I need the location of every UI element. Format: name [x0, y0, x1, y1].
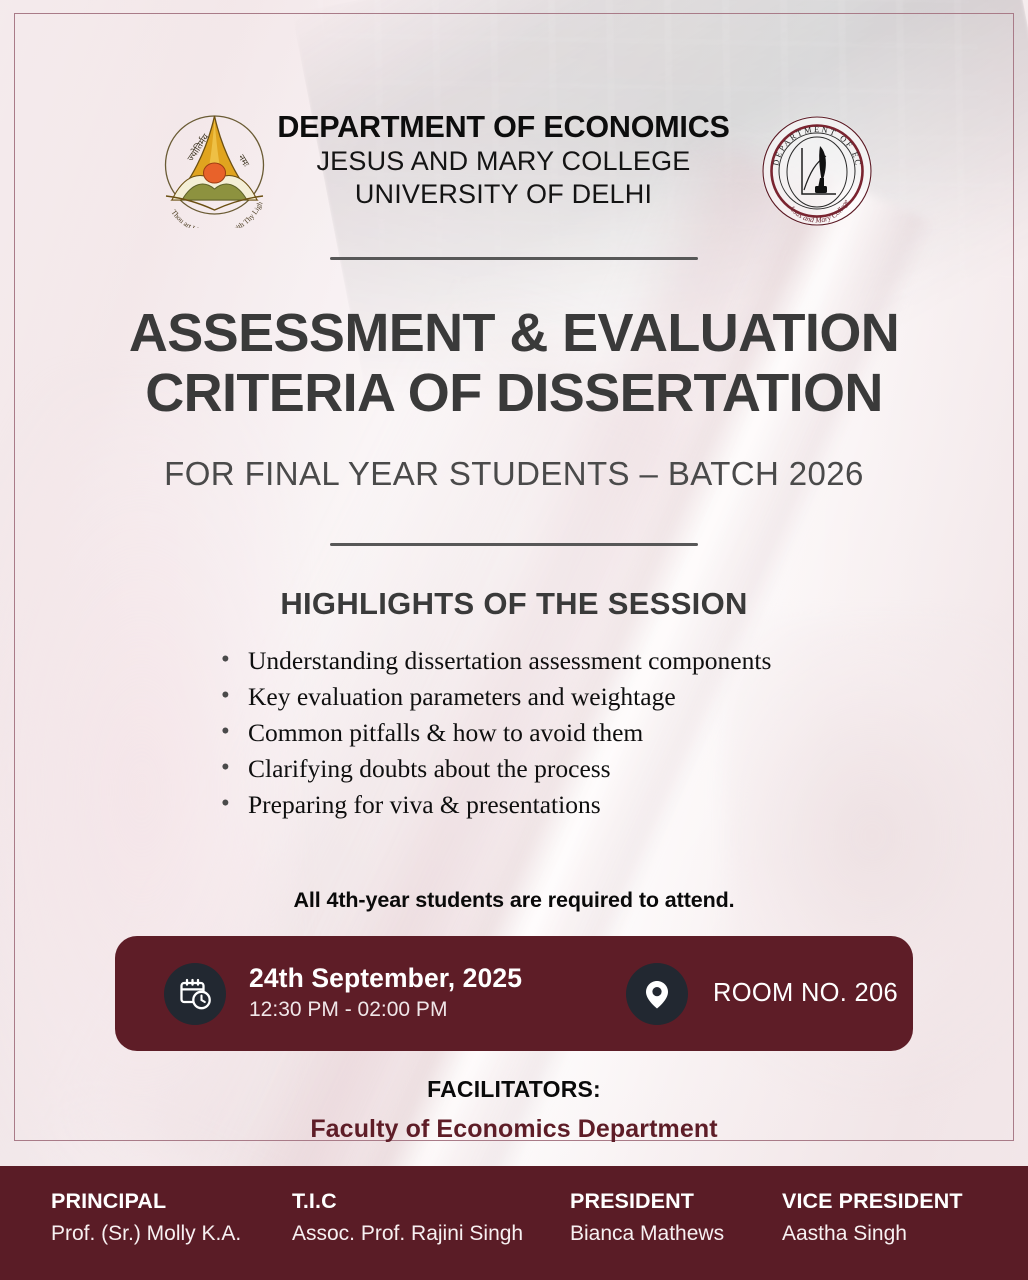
footer-person: VICE PRESIDENT Aastha Singh — [782, 1188, 963, 1249]
calendar-clock-icon — [164, 963, 226, 1025]
map-pin-icon — [626, 963, 688, 1025]
highlights-heading: HIGHLIGHTS OF THE SESSION — [0, 586, 1028, 622]
event-poster: ज्योतिर्मय नमः Thou art Light, Fill me w… — [0, 0, 1028, 1280]
footer-name: Aastha Singh — [782, 1219, 963, 1249]
divider-bottom — [330, 543, 698, 546]
footer-role: VICE PRESIDENT — [782, 1188, 963, 1215]
list-item: Key evaluation parameters and weightage — [214, 684, 814, 720]
university-name: UNIVERSITY OF DELHI — [277, 178, 729, 210]
economics-department-seal: DEPARTMENT OF ECONOMICS Jesus and Mary C… — [758, 112, 876, 230]
attendance-notice: All 4th-year students are required to at… — [0, 888, 1028, 913]
event-room: ROOM NO. 206 — [713, 979, 898, 1008]
college-name: JESUS AND MARY COLLEGE — [277, 145, 729, 177]
list-item: Preparing for viva & presentations — [214, 792, 814, 828]
list-item: Common pitfalls & how to avoid them — [214, 720, 814, 756]
poster-footer: PRINCIPAL Prof. (Sr.) Molly K.A. T.I.C A… — [0, 1166, 1028, 1280]
page-subtitle: FOR FINAL YEAR STUDENTS – BATCH 2026 — [0, 455, 1028, 493]
footer-name: Bianca Mathews — [570, 1219, 724, 1249]
poster-header: ज्योतिर्मय नमः Thou art Light, Fill me w… — [0, 104, 1028, 230]
footer-name: Assoc. Prof. Rajini Singh — [292, 1219, 523, 1249]
footer-role: PRINCIPAL — [51, 1188, 241, 1215]
event-room-group: ROOM NO. 206 — [626, 963, 898, 1025]
organisation-titles: DEPARTMENT OF ECONOMICS JESUS AND MARY C… — [277, 104, 729, 210]
page-title: ASSESSMENT & EVALUATION CRITERIA OF DISS… — [0, 303, 1028, 424]
footer-person: T.I.C Assoc. Prof. Rajini Singh — [292, 1188, 523, 1249]
event-date-group: 24th September, 2025 12:30 PM - 02:00 PM — [164, 963, 522, 1025]
divider-top — [330, 257, 698, 260]
event-date-text: 24th September, 2025 12:30 PM - 02:00 PM — [249, 963, 522, 1024]
title-line-2: CRITERIA OF DISSERTATION — [0, 363, 1028, 423]
title-line-1: ASSESSMENT & EVALUATION — [0, 303, 1028, 363]
event-time: 12:30 PM - 02:00 PM — [249, 996, 522, 1023]
event-details-bar: 24th September, 2025 12:30 PM - 02:00 PM… — [115, 936, 913, 1051]
facilitators-value: Faculty of Economics Department — [0, 1115, 1028, 1144]
facilitators-label: FACILITATORS: — [0, 1076, 1028, 1103]
highlights-list: Understanding dissertation assessment co… — [0, 648, 1028, 828]
event-date: 24th September, 2025 — [249, 963, 522, 993]
footer-role: PRESIDENT — [570, 1188, 724, 1215]
footer-person: PRESIDENT Bianca Mathews — [570, 1188, 724, 1249]
list-item: Clarifying doubts about the process — [214, 756, 814, 792]
list-item: Understanding dissertation assessment co… — [214, 648, 814, 684]
jmc-crest-logo: ज्योतिर्मय नमः Thou art Light, Fill me w… — [152, 110, 277, 228]
footer-role: T.I.C — [292, 1188, 523, 1215]
jmc-sanskrit-right: नमः — [237, 153, 252, 169]
footer-name: Prof. (Sr.) Molly K.A. — [51, 1219, 241, 1249]
footer-person: PRINCIPAL Prof. (Sr.) Molly K.A. — [51, 1188, 241, 1249]
department-name: DEPARTMENT OF ECONOMICS — [277, 110, 729, 145]
